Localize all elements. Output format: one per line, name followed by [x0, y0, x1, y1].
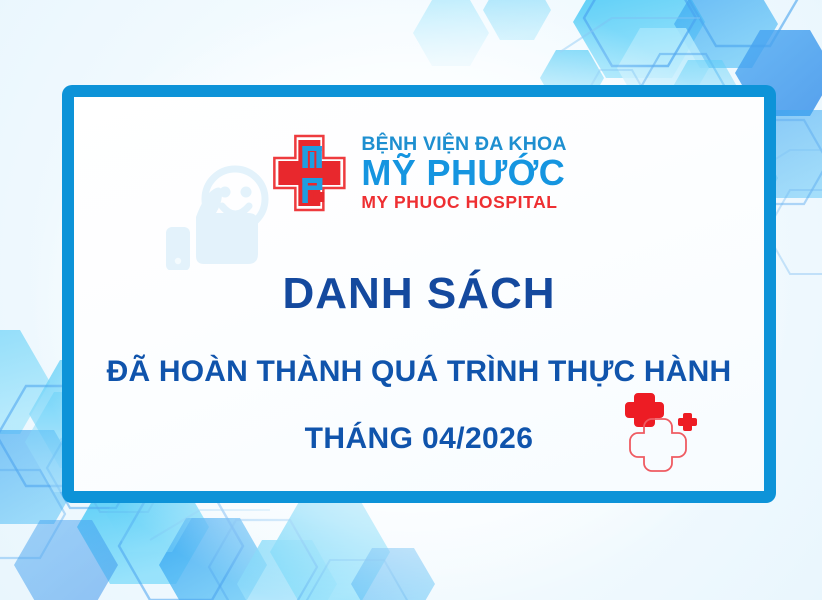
red-cross-small [678, 413, 697, 431]
red-cross-decoration [624, 387, 716, 473]
red-cross-solid [625, 393, 664, 427]
medical-cross-mp-logo-icon [271, 133, 347, 213]
poster-inner-panel: BỆNH VIỆN ĐA KHOA MỸ PHƯỚC MY PHUOC HOSP… [74, 97, 764, 491]
poster-frame: BỆNH VIỆN ĐA KHOA MỸ PHƯỚC MY PHUOC HOSP… [62, 85, 776, 503]
page-subtitle: ĐÃ HOÀN THÀNH QUÁ TRÌNH THỰC HÀNH [74, 355, 764, 389]
page-title: DANH SÁCH [74, 269, 764, 319]
thumbs-up-smiley-watermark [152, 165, 277, 270]
logo-line-2: MỸ PHƯỚC [361, 155, 566, 190]
logo-line-3: MY PHUOC HOSPITAL [361, 194, 566, 212]
poster-canvas: BỆNH VIỆN ĐA KHOA MỸ PHƯỚC MY PHUOC HOSP… [0, 0, 822, 600]
hospital-logo: BỆNH VIỆN ĐA KHOA MỸ PHƯỚC MY PHUOC HOSP… [271, 133, 566, 213]
